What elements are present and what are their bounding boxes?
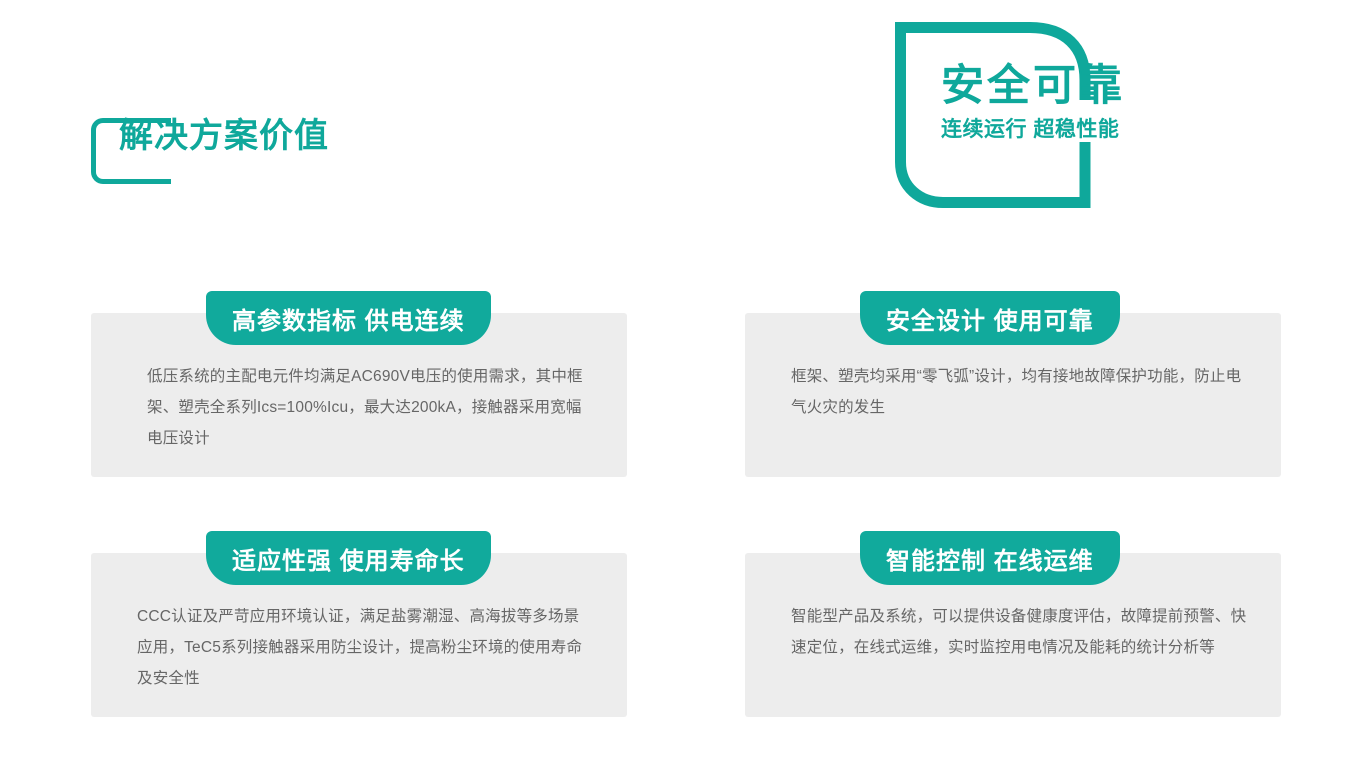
card-body-text: CCC认证及严苛应用环境认证，满足盐雾潮湿、高海拔等多场景应用，TeC5系列接触… — [137, 601, 593, 694]
card-title-badge: 适应性强 使用寿命长 — [206, 531, 491, 585]
card-title-badge: 安全设计 使用可靠 — [860, 291, 1120, 345]
card-title-badge: 智能控制 在线运维 — [860, 531, 1120, 585]
logo-title: 安全可靠 — [941, 64, 1181, 109]
card-body-text: 低压系统的主配电元件均满足AC690V电压的使用需求，其中框架、塑壳全系列Ics… — [147, 361, 593, 454]
value-card: 安全设计 使用可靠 框架、塑壳均采用“零飞弧”设计，均有接地故障保护功能，防止电… — [745, 313, 1281, 477]
logo-text: 安全可靠 连续运行 超稳性能 — [941, 64, 1181, 143]
value-card: 高参数指标 供电连续 低压系统的主配电元件均满足AC690V电压的使用需求，其中… — [91, 313, 627, 477]
page-root: 解决方案价值 安全可靠 连续运行 超稳性能 高参数指标 供电连续 低压系统的主配… — [0, 0, 1350, 782]
logo-subtitle: 连续运行 超稳性能 — [941, 113, 1181, 143]
value-card: 智能控制 在线运维 智能型产品及系统，可以提供设备健康度评估，故障提前预警、快速… — [745, 553, 1281, 717]
page-title: 解决方案价值 — [119, 114, 329, 158]
card-title-badge: 高参数指标 供电连续 — [206, 291, 491, 345]
card-body-text: 框架、塑壳均采用“零飞弧”设计，均有接地故障保护功能，防止电气火灾的发生 — [791, 361, 1247, 423]
card-body-text: 智能型产品及系统，可以提供设备健康度评估，故障提前预警、快速定位，在线式运维，实… — [791, 601, 1247, 663]
section-heading: 解决方案价值 — [91, 108, 511, 188]
value-card: 适应性强 使用寿命长 CCC认证及严苛应用环境认证，满足盐雾潮湿、高海拔等多场景… — [91, 553, 627, 717]
logo-badge: 安全可靠 连续运行 超稳性能 — [895, 22, 1121, 208]
